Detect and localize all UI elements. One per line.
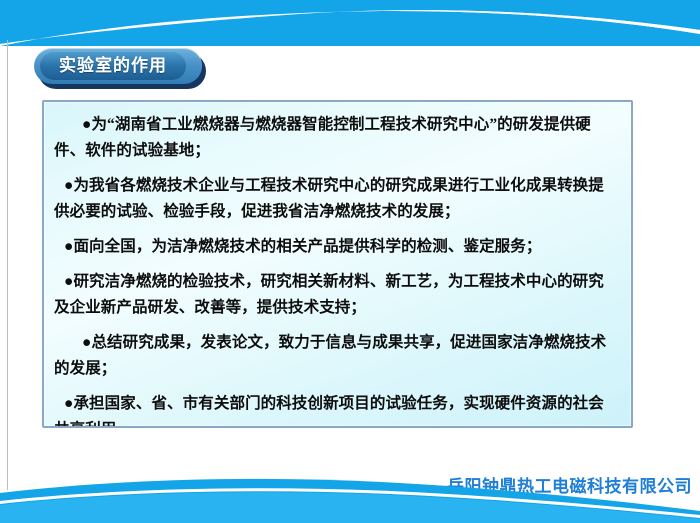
bullet-paragraph-2: ●为我省各燃烧技术企业与工程技术研究中心的研究成果进行工业化成果转换提供必要的试… — [54, 173, 619, 225]
content-panel: ●为“湖南省工业燃烧器与燃烧器智能控制工程技术研究中心”的研发提供硬件、软件的试… — [42, 100, 633, 428]
footer-company-name: 岳阳钟鼎热工电磁科技有限公司 — [447, 472, 692, 497]
bullet-paragraph-3: ●面向全国，为洁净燃烧技术的相关产品提供科学的检测、鉴定服务； — [54, 234, 619, 260]
bullet-paragraph-4: ●研究洁净燃烧的检验技术，研究相关新材料、新工艺，为工程技术中心的研究及企业新产… — [54, 269, 619, 321]
bullet-paragraph-6: ●承担国家、省、市有关部门的科技创新项目的试验任务，实现硬件资源的社会共享利用。 — [54, 391, 619, 428]
bullet-paragraph-1: ●为“湖南省工业燃烧器与燃烧器智能控制工程技术研究中心”的研发提供硬件、软件的试… — [54, 112, 619, 164]
bullet-paragraph-5: ●总结研究成果，发表论文，致力于信息与成果共享，促进国家洁净燃烧技术的发展； — [54, 330, 619, 382]
left-vertical-rule — [7, 40, 8, 490]
slide-canvas: 实验室的作用 ●为“湖南省工业燃烧器与燃烧器智能控制工程技术研究中心”的研发提供… — [0, 0, 700, 523]
section-title-badge: 实验室的作用 — [34, 48, 202, 84]
section-title-label: 实验室的作用 — [40, 52, 186, 80]
top-wave-decoration — [0, 0, 700, 46]
